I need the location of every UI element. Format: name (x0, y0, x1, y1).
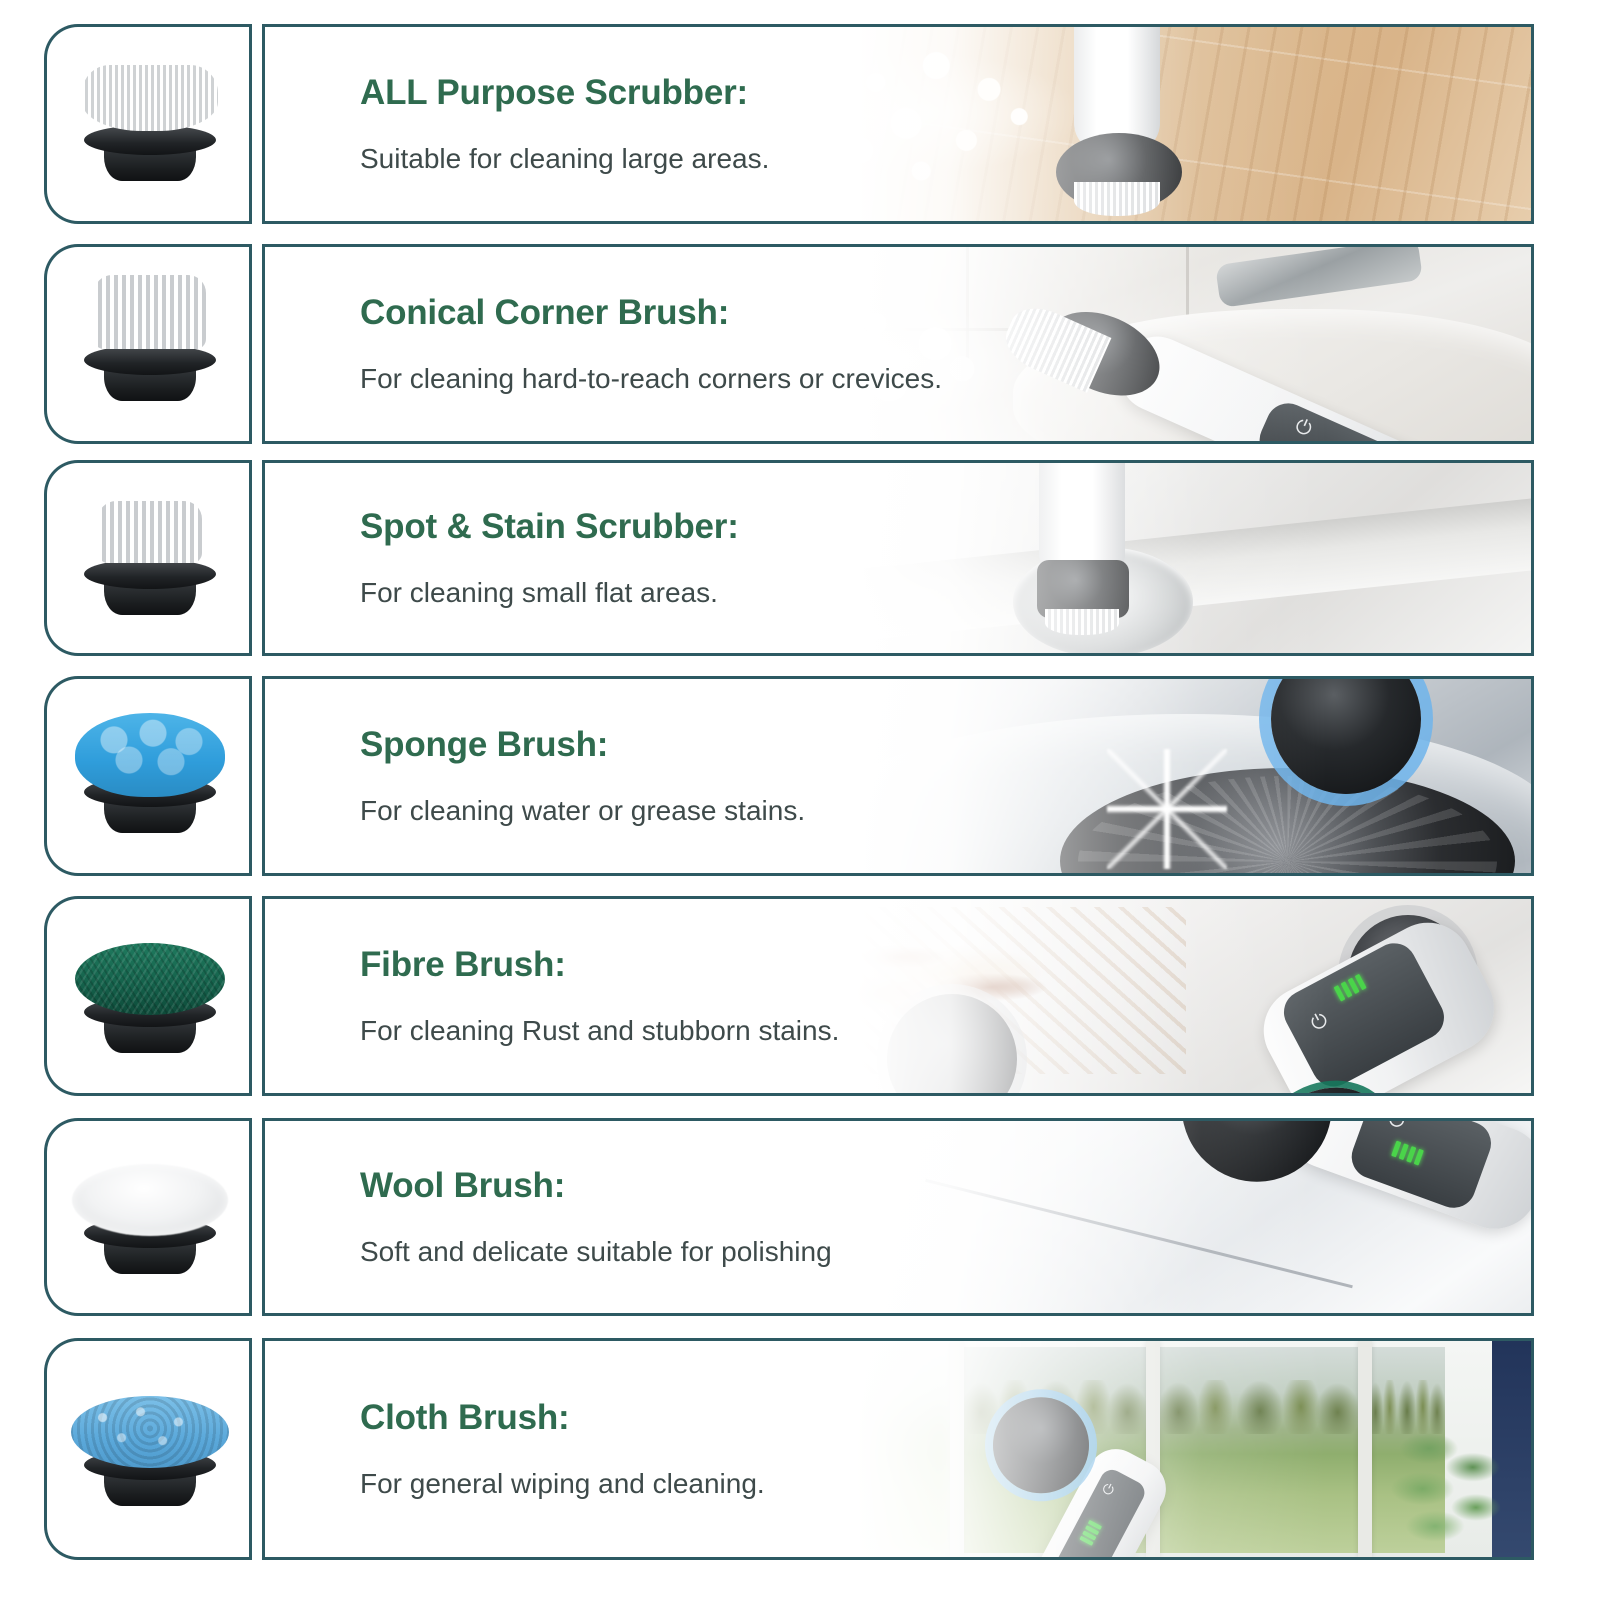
brush-row[interactable]: ⏻ Wool Brush: Soft and delicate suitable… (0, 1118, 1600, 1316)
text-block: Sponge Brush: For cleaning water or grea… (360, 725, 805, 827)
brush-title: Conical Corner Brush: (360, 293, 942, 333)
content-card-fibre-brush: ⏻ Fibre Brush: For cleaning Rust and stu… (262, 896, 1534, 1096)
brush-description: For cleaning small flat areas. (360, 577, 739, 609)
brush-row[interactable]: Spot & Stain Scrubber: For cleaning smal… (0, 460, 1600, 656)
window-glass-park-view-scene: ⏻ (746, 1341, 1531, 1557)
brush-title: ALL Purpose Scrubber: (360, 73, 769, 113)
brush-title: Wool Brush: (360, 1166, 832, 1206)
brush-row[interactable]: ALL Purpose Scrubber: Suitable for clean… (0, 24, 1600, 224)
sponge-brush-head (70, 711, 230, 841)
thumbnail-cell-sponge-brush (44, 676, 252, 876)
conical-corner-brush-head (70, 279, 230, 409)
silver-car-fender-scene (746, 679, 1531, 873)
brush-description: For cleaning hard-to-reach corners or cr… (360, 363, 942, 395)
all-purpose-scrubber-brush-head (70, 59, 230, 189)
brush-title: Cloth Brush: (360, 1398, 765, 1438)
content-card-conical-corner-brush: ⏻ Conical Corner Brush: For cleaning har… (262, 244, 1534, 444)
thumbnail-cell-cloth-brush (44, 1338, 252, 1560)
brush-row[interactable]: Sponge Brush: For cleaning water or grea… (0, 676, 1600, 876)
text-block: Wool Brush: Soft and delicate suitable f… (360, 1166, 832, 1268)
thumbnail-cell-conical-corner-brush (44, 244, 252, 444)
brush-description: Suitable for cleaning large areas. (360, 143, 769, 175)
wool-brush-head (70, 1152, 230, 1282)
text-block: Cloth Brush: For general wiping and clea… (360, 1398, 765, 1500)
brush-description: For general wiping and cleaning. (360, 1468, 765, 1500)
white-car-panel-scene: ⏻ (746, 1121, 1531, 1313)
thumbnail-cell-fibre-brush (44, 896, 252, 1096)
sink-drain-scene (746, 463, 1531, 653)
cloth-brush-head (70, 1384, 230, 1514)
brush-attachments-infographic: ALL Purpose Scrubber: Suitable for clean… (0, 0, 1600, 1600)
text-block: Fibre Brush: For cleaning Rust and stubb… (360, 945, 839, 1047)
brush-description: Soft and delicate suitable for polishing (360, 1236, 832, 1268)
text-block: ALL Purpose Scrubber: Suitable for clean… (360, 73, 769, 175)
brush-title: Sponge Brush: (360, 725, 805, 765)
wood-floor-with-foam-scene (746, 27, 1531, 221)
fibre-brush-head (70, 931, 230, 1061)
brush-row[interactable]: ⏻ Fibre Brush: For cleaning Rust and stu… (0, 896, 1600, 1096)
spot-stain-scrubber-brush-head (70, 493, 230, 623)
brush-row[interactable]: ⏻ Conical Corner Brush: For cleaning har… (0, 244, 1600, 444)
content-card-spot-stain-scrubber: Spot & Stain Scrubber: For cleaning smal… (262, 460, 1534, 656)
brush-row[interactable]: ⏻ Cloth Brush: For general wiping and cl… (0, 1338, 1600, 1560)
thumbnail-cell-wool-brush (44, 1118, 252, 1316)
brush-description: For cleaning Rust and stubborn stains. (360, 1015, 839, 1047)
text-block: Conical Corner Brush: For cleaning hard-… (360, 293, 942, 395)
brush-description: For cleaning water or grease stains. (360, 795, 805, 827)
thumbnail-cell-all-purpose-scrubber (44, 24, 252, 224)
content-card-all-purpose-scrubber: ALL Purpose Scrubber: Suitable for clean… (262, 24, 1534, 224)
content-card-wool-brush: ⏻ Wool Brush: Soft and delicate suitable… (262, 1118, 1534, 1316)
content-card-sponge-brush: Sponge Brush: For cleaning water or grea… (262, 676, 1534, 876)
brush-title: Fibre Brush: (360, 945, 839, 985)
thumbnail-cell-spot-stain-scrubber (44, 460, 252, 656)
rusty-stovetop-scene: ⏻ (746, 899, 1531, 1093)
brush-title: Spot & Stain Scrubber: (360, 507, 739, 547)
content-card-cloth-brush: ⏻ Cloth Brush: For general wiping and cl… (262, 1338, 1534, 1560)
text-block: Spot & Stain Scrubber: For cleaning smal… (360, 507, 739, 609)
